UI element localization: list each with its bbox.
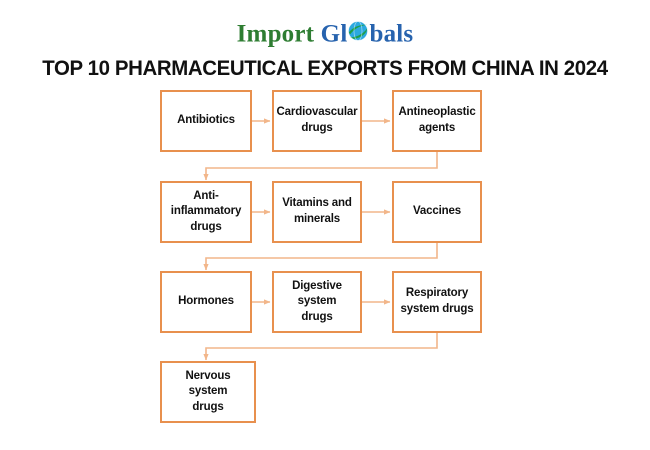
infographic-page: Import Gl bals TOP 10 PHARMACEUTICAL EXP… [0, 0, 650, 450]
flowchart-node-digestive-system-drugs[interactable]: Digestive system drugs [272, 271, 362, 333]
flowchart-node-hormones[interactable]: Hormones [160, 271, 252, 333]
node-label-line: Digestive system [280, 279, 354, 310]
node-label-line: Vaccines [413, 204, 461, 220]
node-label-line: Hormones [178, 294, 234, 310]
node-label-line: agents [398, 121, 475, 137]
connector-row2-to-row3 [206, 242, 437, 270]
flowchart-node-cardiovascular-drugs[interactable]: Cardiovascular drugs [272, 90, 362, 152]
flowchart-node-respiratory-system-drugs[interactable]: Respiratory system drugs [392, 271, 482, 333]
node-label-line: drugs [280, 310, 354, 326]
connector-row1-to-row2 [206, 152, 437, 180]
node-label-line: Cardiovascular [277, 105, 358, 121]
node-label-line: Antineoplastic [398, 105, 475, 121]
node-label-line: Antibiotics [177, 113, 235, 129]
node-label-line: minerals [282, 212, 352, 228]
flowchart-node-antineoplastic-agents[interactable]: Antineoplastic agents [392, 90, 482, 152]
flowchart-node-nervous-system-drugs[interactable]: Nervous system drugs [160, 361, 256, 423]
connector-row3-to-row4 [206, 332, 437, 360]
node-label-line: system drugs [401, 302, 474, 318]
flowchart-node-vaccines[interactable]: Vaccines [392, 181, 482, 243]
node-label-line: inflammatory [171, 204, 241, 220]
flowchart-node-vitamins-and-minerals[interactable]: Vitamins and minerals [272, 181, 362, 243]
node-label-line: drugs [168, 400, 248, 416]
node-label-line: drugs [171, 220, 241, 236]
node-label-line: Vitamins and [282, 196, 352, 212]
node-label-line: Nervous system [168, 369, 248, 400]
flowchart-node-anti-inflammatory-drugs[interactable]: Anti- inflammatory drugs [160, 181, 252, 243]
flowchart-node-antibiotics[interactable]: Antibiotics [160, 90, 252, 152]
node-label-line: drugs [277, 121, 358, 137]
node-label-line: Anti- [171, 189, 241, 205]
flowchart: Antibiotics Cardiovascular drugs Antineo… [0, 0, 650, 450]
node-label-line: Respiratory [401, 286, 474, 302]
